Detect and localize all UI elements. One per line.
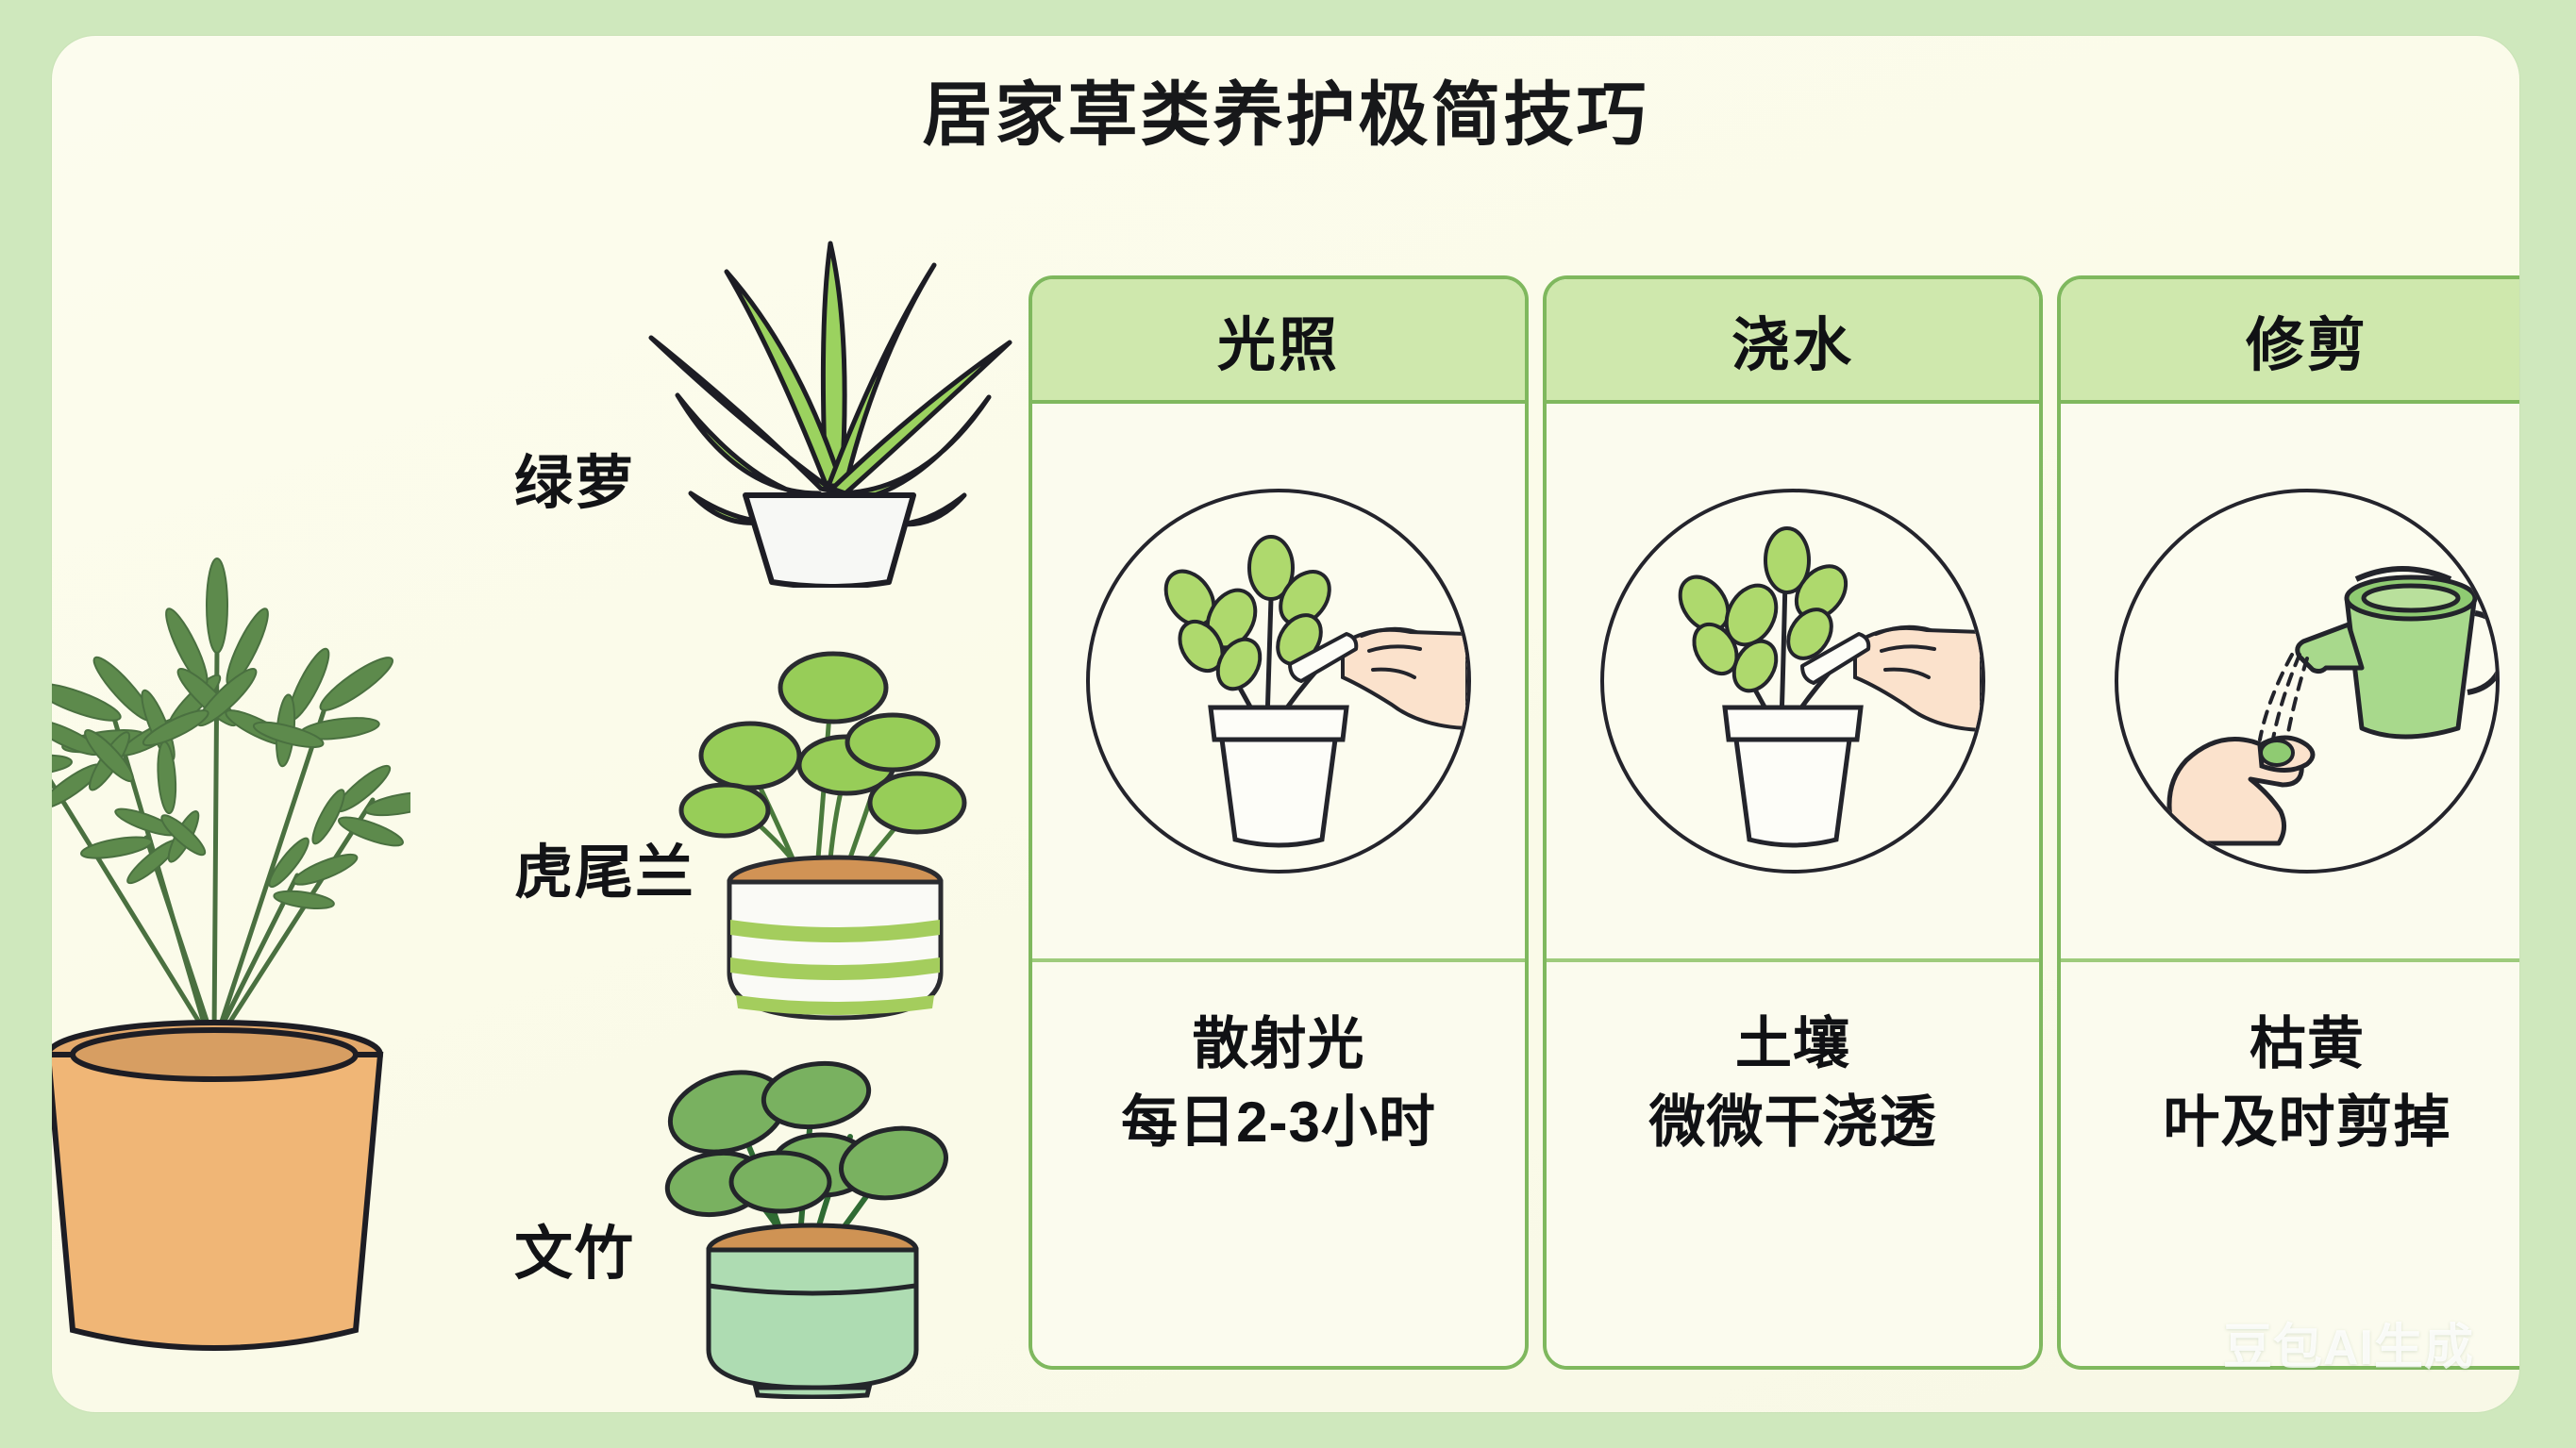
card-illustration-prune xyxy=(2061,404,2519,958)
caption-line-1: 散射光 xyxy=(1193,1006,1365,1084)
hand-tool-potted-plant-icon xyxy=(1600,489,1985,874)
caption-line-1: 土壤 xyxy=(1735,1006,1850,1084)
caption-line-2: 微微干浇透 xyxy=(1649,1084,1937,1162)
card-illustration-light xyxy=(1032,404,1525,958)
plant-illustration-0 xyxy=(632,210,1029,588)
card-header-water: 浇水 xyxy=(1547,279,2039,404)
card-caption-water: 土壤 微微干浇透 xyxy=(1547,958,2039,1370)
caption-line-1: 枯黄 xyxy=(2250,1006,2365,1084)
watering-can-hand-icon xyxy=(2115,489,2500,874)
care-card-prune[interactable]: 修剪 xyxy=(2057,275,2519,1370)
card-header-label: 光照 xyxy=(1217,297,1340,382)
caption-line-2: 每日2-3小时 xyxy=(1121,1084,1436,1162)
card-caption-light: 散射光 每日2-3小时 xyxy=(1032,958,1525,1370)
card-caption-prune: 枯黄 叶及时剪掉 xyxy=(2061,958,2519,1370)
hero-plant-illustration xyxy=(52,309,410,1375)
plant-label-2: 文竹 xyxy=(514,1206,635,1290)
caption-line-2: 叶及时剪掉 xyxy=(2164,1084,2451,1162)
care-card-water[interactable]: 浇水 xyxy=(1543,275,2043,1370)
card-header-label: 修剪 xyxy=(2246,297,2368,382)
plant-illustration-1 xyxy=(661,644,1010,1022)
card-header-prune: 修剪 xyxy=(2061,279,2519,404)
card-header-label: 浇水 xyxy=(1731,297,1854,382)
card-illustration-water xyxy=(1547,404,2039,958)
plant-label-0: 绿萝 xyxy=(514,435,635,520)
hand-tool-potted-plant-icon xyxy=(1086,489,1471,874)
plant-illustration-2 xyxy=(637,1022,995,1399)
card-header-light: 光照 xyxy=(1032,279,1525,404)
care-card-light[interactable]: 光照 xyxy=(1029,275,1529,1370)
page-title: 居家草类养护极简技巧 xyxy=(52,72,2519,159)
infographic-panel: 居家草类养护极简技巧 xyxy=(52,36,2519,1412)
